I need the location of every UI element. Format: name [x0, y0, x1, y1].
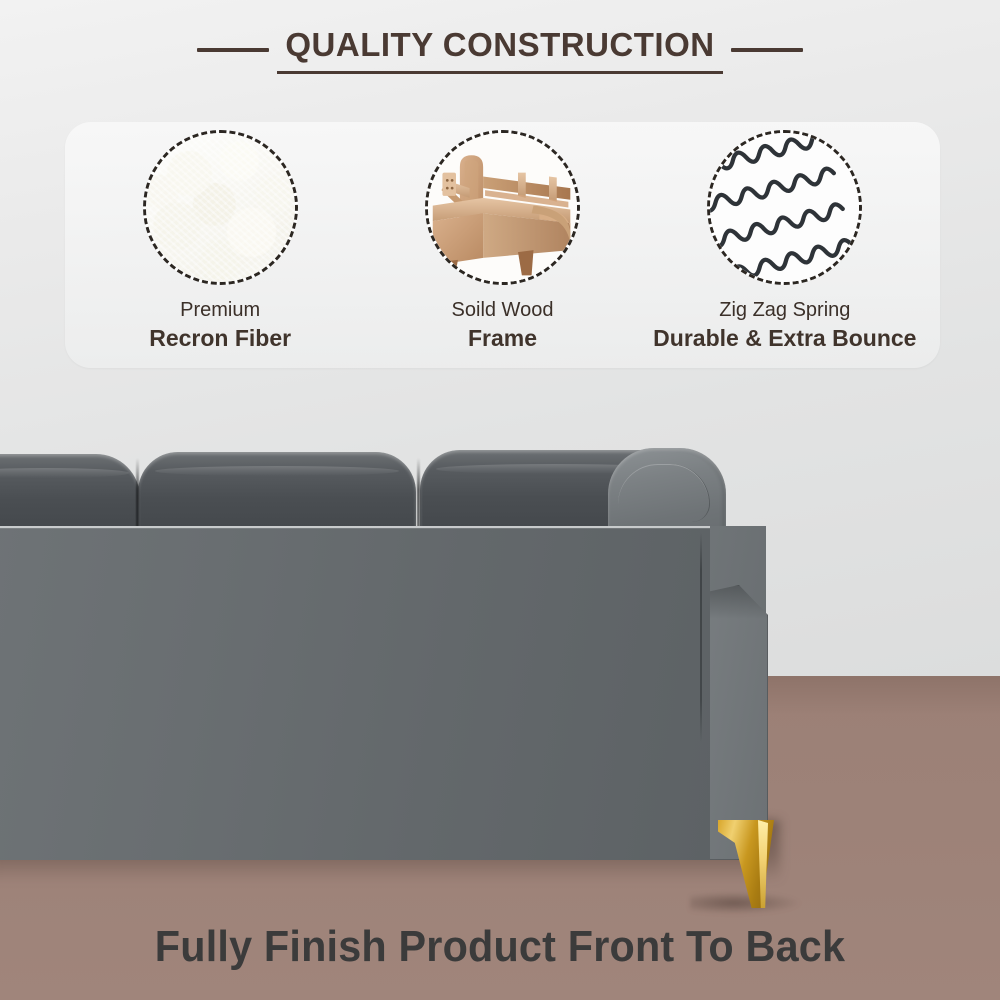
sofa-gold-leg [718, 820, 774, 908]
wood-frame-drawing [425, 130, 580, 285]
sofa-product-image [0, 430, 800, 890]
page-title: QUALITY CONSTRUCTION [285, 26, 714, 64]
zigzag-spring-drawing [707, 130, 862, 285]
feature-label-bold: Frame [452, 325, 554, 352]
sofa-back-panel-seam [700, 532, 702, 742]
page-title-wrapper: QUALITY CONSTRUCTION [285, 26, 714, 74]
wood-frame-icon [425, 130, 580, 285]
feature-caption-wood: Soild Wood Frame [452, 299, 554, 352]
title-underline [277, 71, 722, 74]
fiber-image-clip [143, 130, 298, 285]
spring-image-clip [707, 130, 862, 285]
feature-label-top: Premium [149, 299, 291, 323]
feature-item-recron-fiber: Premium Recron Fiber [79, 130, 361, 352]
title-dash-left-icon [197, 48, 269, 52]
feature-label-top: Zig Zag Spring [653, 299, 916, 323]
feature-label-top: Soild Wood [452, 299, 554, 323]
zigzag-spring-icon [707, 130, 862, 285]
feature-label-bold: Durable & Extra Bounce [653, 325, 916, 352]
fiber-fill-icon [143, 130, 298, 285]
feature-label-bold: Recron Fiber [149, 325, 291, 352]
feature-card: Premium Recron Fiber [65, 122, 940, 368]
spring-texture [707, 130, 862, 285]
feature-caption-fiber: Premium Recron Fiber [149, 299, 291, 352]
sofa-back-panel [0, 526, 710, 860]
wood-texture [425, 130, 580, 285]
product-feature-graphic: QUALITY CONSTRUCTION Premium Recron Fibe… [0, 0, 1000, 1000]
feature-caption-spring: Zig Zag Spring Durable & Extra Bounce [653, 299, 916, 352]
sofa-arm-step-panel [702, 585, 768, 860]
bottom-caption: Fully Finish Product Front To Back [30, 922, 970, 972]
fiber-texture [143, 130, 298, 285]
feature-item-zigzag-spring: Zig Zag Spring Durable & Extra Bounce [644, 130, 926, 352]
feature-item-wood-frame: Soild Wood Frame [361, 130, 643, 352]
wood-image-clip [425, 130, 580, 285]
header-title-row: QUALITY CONSTRUCTION [0, 22, 1000, 78]
title-dash-right-icon [731, 48, 803, 52]
